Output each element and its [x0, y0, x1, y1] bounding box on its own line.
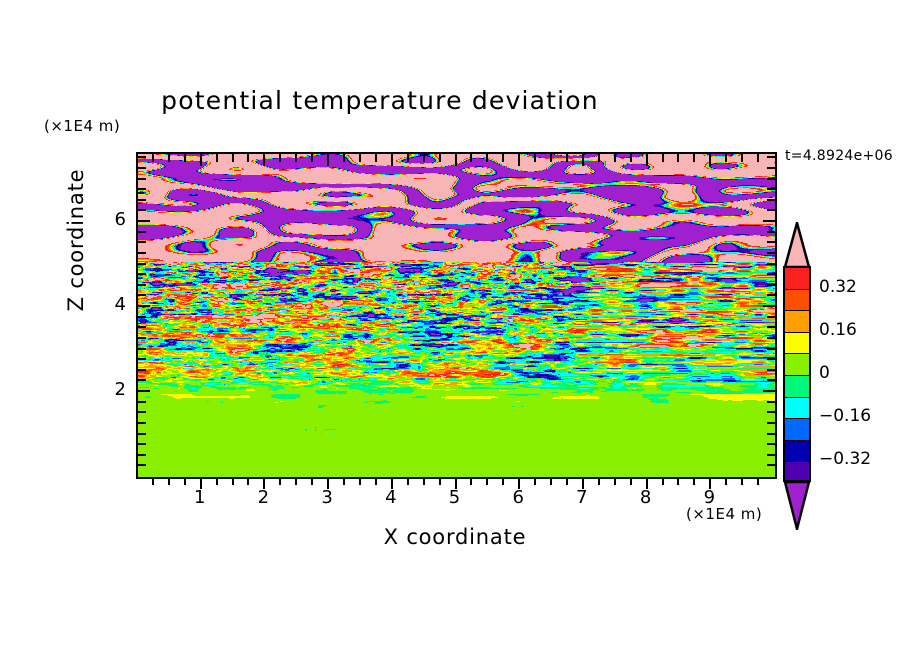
- y-tick-left: [138, 156, 146, 158]
- x-tick-label: 8: [631, 487, 661, 508]
- page-title: potential temperature deviation: [0, 86, 760, 115]
- y-tick-right: [763, 390, 775, 392]
- x-tick-label: 2: [248, 487, 278, 508]
- x-tick-top: [677, 154, 679, 162]
- y-tick-left: [138, 273, 146, 275]
- x-tick-top: [216, 154, 218, 162]
- x-tick-top: [741, 154, 743, 162]
- y-tick-right: [767, 199, 775, 201]
- colorbar-band: [785, 376, 809, 398]
- x-tick-bottom: [677, 477, 679, 485]
- y-tick-left: [138, 464, 146, 466]
- x-tick-top: [598, 154, 600, 162]
- x-tick-top: [152, 154, 154, 162]
- y-tick-left: [138, 188, 146, 190]
- x-tick-top: [470, 154, 472, 162]
- y-tick-right: [767, 178, 775, 180]
- contour-field-panel: [136, 152, 777, 479]
- y-tick-left: [138, 411, 146, 413]
- y-tick-right: [767, 263, 775, 265]
- y-tick-right: [767, 433, 775, 435]
- x-tick-bottom: [423, 477, 425, 485]
- x-axis-title: X coordinate: [255, 525, 655, 549]
- x-tick-bottom: [311, 477, 313, 485]
- y-tick-right: [767, 379, 775, 381]
- y-tick-right: [767, 358, 775, 360]
- x-tick-label: 3: [312, 487, 342, 508]
- x-tick-bottom: [359, 477, 361, 485]
- colorbar-tick-label: −0.32: [819, 449, 871, 469]
- x-tick-bottom: [486, 477, 488, 485]
- y-tick-right: [767, 273, 775, 275]
- x-tick-bottom: [152, 477, 154, 485]
- y-tick-right: [767, 337, 775, 339]
- y-tick-right: [767, 294, 775, 296]
- x-tick-top: [550, 154, 552, 162]
- y-tick-right: [767, 231, 775, 233]
- y-tick-label: 4: [92, 294, 126, 315]
- x-tick-top: [279, 154, 281, 162]
- x-tick-bottom: [725, 477, 727, 485]
- x-tick-label: 5: [440, 487, 470, 508]
- colorbar-over-arrow: [783, 222, 811, 268]
- y-tick-left: [138, 316, 146, 318]
- y-tick-left: [138, 263, 146, 265]
- x-tick-top: [423, 154, 425, 162]
- y-tick-left: [138, 379, 146, 381]
- y-tick-right: [763, 220, 775, 222]
- y-tick-left: [138, 401, 146, 403]
- x-tick-bottom: [630, 477, 632, 485]
- y-tick-left: [138, 305, 150, 307]
- x-tick-bottom: [168, 477, 170, 485]
- x-tick-top: [502, 154, 504, 162]
- colorbar-band: [785, 268, 809, 290]
- y-tick-left: [138, 443, 146, 445]
- x-tick-top: [518, 154, 520, 166]
- colorbar: 0.320.160−0.16−0.32: [783, 222, 903, 522]
- x-tick-bottom: [598, 477, 600, 485]
- x-tick-bottom: [566, 477, 568, 485]
- x-tick-top: [709, 154, 711, 166]
- y-tick-right: [767, 156, 775, 158]
- y-tick-right: [767, 252, 775, 254]
- y-tick-left: [138, 209, 146, 211]
- contour-field-canvas: [138, 154, 775, 477]
- x-tick-top: [168, 154, 170, 162]
- y-tick-right: [767, 464, 775, 466]
- colorbar-tick-label: 0.16: [819, 320, 857, 340]
- y-tick-left: [138, 231, 146, 233]
- x-tick-top: [359, 154, 361, 162]
- y-tick-left: [138, 422, 146, 424]
- x-tick-top: [247, 154, 249, 162]
- y-tick-right: [767, 167, 775, 169]
- y-tick-left: [138, 252, 146, 254]
- y-tick-left: [138, 390, 150, 392]
- y-tick-right: [767, 401, 775, 403]
- x-tick-label: 6: [503, 487, 533, 508]
- colorbar-band: [785, 398, 809, 420]
- y-tick-right: [767, 454, 775, 456]
- x-tick-bottom: [534, 477, 536, 485]
- y-tick-left: [138, 241, 146, 243]
- x-tick-bottom: [662, 477, 664, 485]
- colorbar-tick-label: −0.16: [819, 406, 871, 426]
- x-tick-top: [486, 154, 488, 162]
- x-tick-bottom: [693, 477, 695, 485]
- colorbar-tick-label: 0: [819, 363, 830, 383]
- x-tick-top: [232, 154, 234, 162]
- x-tick-label: 9: [694, 487, 724, 508]
- y-tick-left: [138, 369, 146, 371]
- x-tick-bottom: [295, 477, 297, 485]
- y-tick-right: [767, 188, 775, 190]
- y-tick-right: [767, 326, 775, 328]
- colorbar-band: [785, 419, 809, 441]
- x-tick-top: [582, 154, 584, 166]
- x-tick-bottom: [247, 477, 249, 485]
- contour-plot-figure: potential temperature deviation (×1E4 m)…: [0, 0, 904, 654]
- y-tick-right: [763, 305, 775, 307]
- x-tick-top: [343, 154, 345, 162]
- colorbar-band: [785, 290, 809, 312]
- colorbar-band: [785, 441, 809, 463]
- x-tick-bottom: [343, 477, 345, 485]
- x-tick-bottom: [439, 477, 441, 485]
- x-tick-top: [630, 154, 632, 162]
- x-tick-bottom: [757, 477, 759, 485]
- y-tick-right: [767, 422, 775, 424]
- y-tick-label: 2: [92, 379, 126, 400]
- x-tick-label: 7: [567, 487, 597, 508]
- x-tick-top: [534, 154, 536, 162]
- x-tick-top: [566, 154, 568, 162]
- x-tick-bottom: [502, 477, 504, 485]
- x-tick-bottom: [279, 477, 281, 485]
- x-tick-top: [184, 154, 186, 162]
- x-tick-top: [375, 154, 377, 162]
- x-tick-top: [263, 154, 265, 166]
- x-tick-top: [200, 154, 202, 166]
- y-tick-left: [138, 178, 146, 180]
- x-tick-bottom: [375, 477, 377, 485]
- x-tick-bottom: [614, 477, 616, 485]
- x-tick-top: [295, 154, 297, 162]
- colorbar-tick-label: 0.32: [819, 277, 857, 297]
- y-tick-left: [138, 326, 146, 328]
- x-tick-top: [757, 154, 759, 162]
- y-tick-left: [138, 454, 146, 456]
- x-tick-label: 1: [185, 487, 215, 508]
- x-tick-top: [614, 154, 616, 162]
- y-tick-right: [767, 348, 775, 350]
- x-tick-bottom: [470, 477, 472, 485]
- x-tick-bottom: [232, 477, 234, 485]
- x-tick-bottom: [550, 477, 552, 485]
- y-tick-left: [138, 337, 146, 339]
- x-tick-bottom: [216, 477, 218, 485]
- y-tick-right: [767, 284, 775, 286]
- y-tick-left: [138, 167, 146, 169]
- x-tick-top: [407, 154, 409, 162]
- x-tick-top: [439, 154, 441, 162]
- y-tick-left: [138, 284, 146, 286]
- x-tick-top: [646, 154, 648, 166]
- y-tick-right: [767, 369, 775, 371]
- y-tick-left: [138, 358, 146, 360]
- x-tick-top: [311, 154, 313, 162]
- x-tick-bottom: [741, 477, 743, 485]
- y-tick-left: [138, 433, 146, 435]
- y-tick-right: [767, 241, 775, 243]
- x-tick-bottom: [184, 477, 186, 485]
- time-annotation: t=4.8924e+06: [785, 148, 893, 164]
- x-tick-bottom: [407, 477, 409, 485]
- colorbar-under-arrow: [783, 480, 811, 530]
- colorbar-band: [785, 311, 809, 333]
- y-tick-left: [138, 220, 150, 222]
- colorbar-band: [785, 354, 809, 376]
- x-tick-label: 4: [376, 487, 406, 508]
- y-tick-left: [138, 348, 146, 350]
- x-tick-top: [455, 154, 457, 166]
- y-tick-right: [767, 411, 775, 413]
- y-axis-title: Z coordinate: [64, 120, 88, 360]
- x-tick-top: [662, 154, 664, 162]
- x-tick-top: [327, 154, 329, 166]
- colorbar-band: [785, 333, 809, 355]
- y-tick-right: [767, 316, 775, 318]
- y-tick-left: [138, 199, 146, 201]
- x-tick-top: [693, 154, 695, 162]
- y-tick-right: [767, 443, 775, 445]
- y-tick-right: [767, 209, 775, 211]
- y-tick-label: 6: [92, 209, 126, 230]
- colorbar-bands: [783, 266, 811, 482]
- x-tick-top: [391, 154, 393, 166]
- x-tick-top: [725, 154, 727, 162]
- y-tick-left: [138, 294, 146, 296]
